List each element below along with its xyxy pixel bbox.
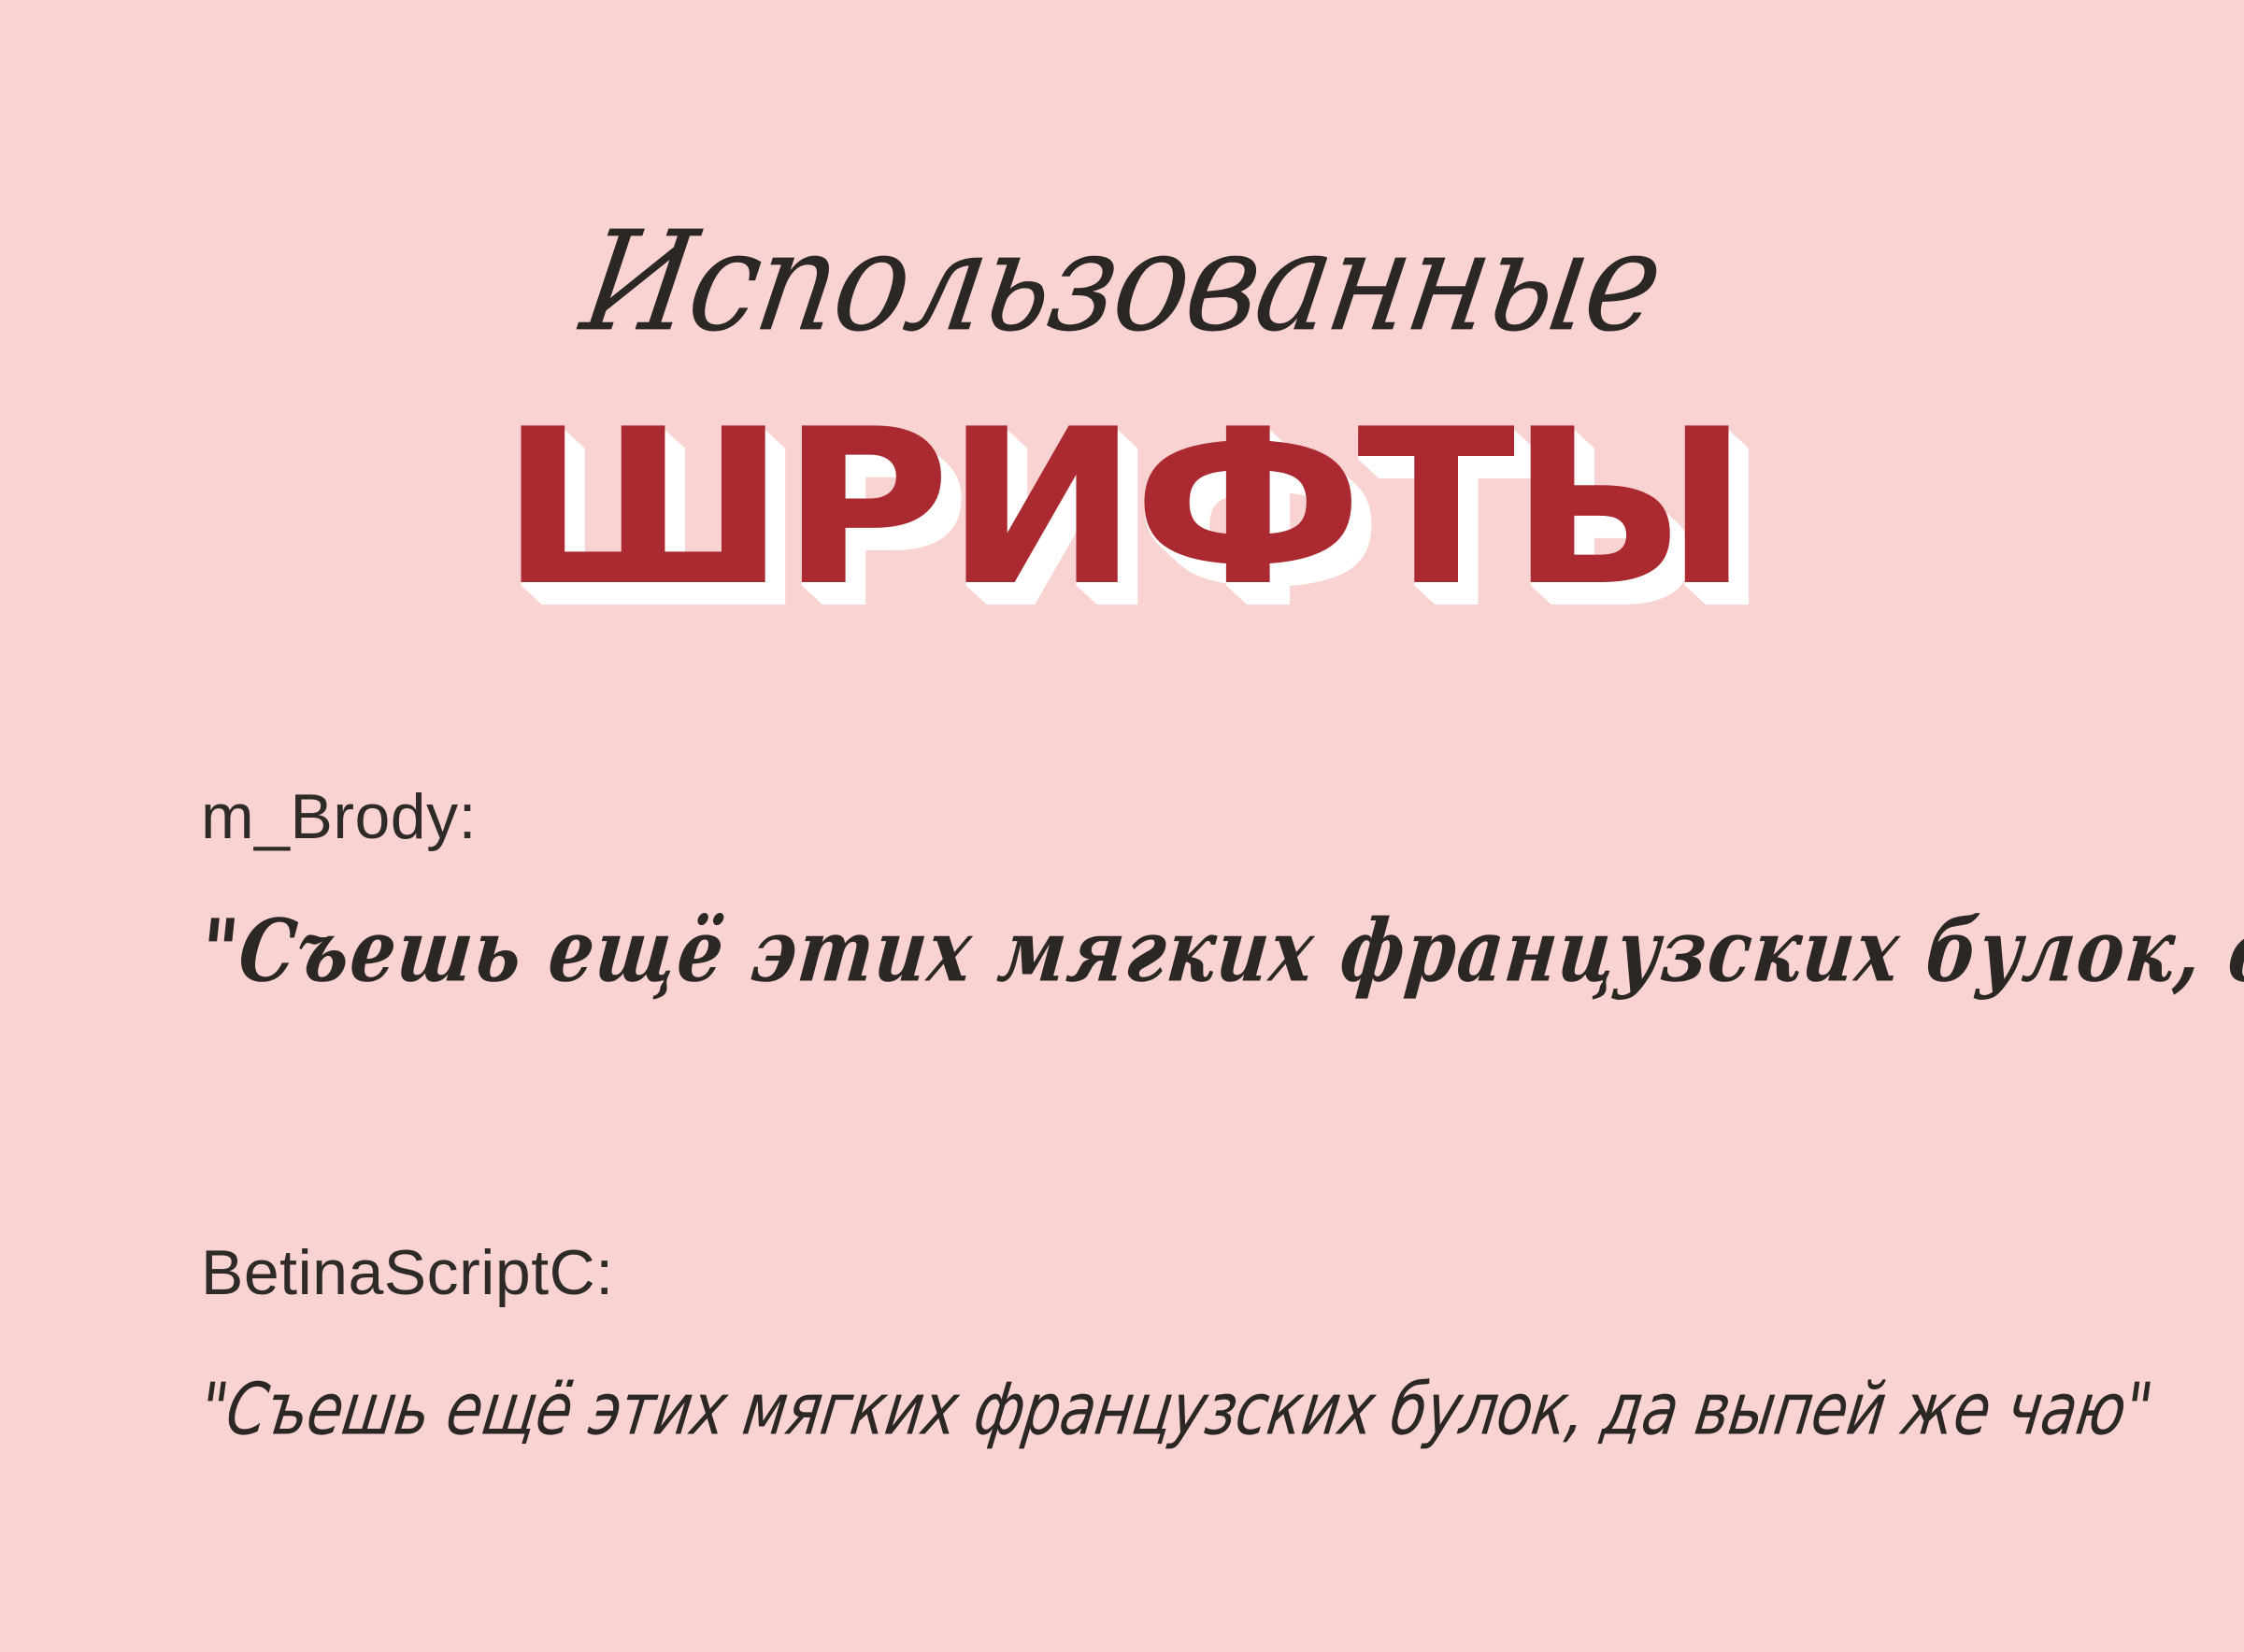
- font-specimen-text: "Съешь ещё этих мягких французских булок…: [196, 909, 2187, 995]
- font-sample-betina: BetinaScriptC: "Съешь ещё этих мягких фр…: [0, 1241, 2244, 1441]
- slide-canvas: Использованные ШРИФТЫ m_Brody: "Съешь ещ…: [0, 0, 2244, 1652]
- title-block: Использованные ШРИФТЫ: [0, 0, 2244, 710]
- font-specimen-text: "Съешь ещё этих мягких французских булок…: [196, 1374, 2127, 1446]
- font-name-label: m_Brody:: [201, 785, 2244, 848]
- page-title: ШРИФТЫ: [500, 402, 1744, 617]
- font-samples-list: m_Brody: "Съешь ещё этих мягких французс…: [0, 785, 2244, 1441]
- script-heading: Использованные: [0, 213, 2244, 351]
- main-title-wrapper: ШРИФТЫ: [0, 402, 2244, 682]
- font-sample-brody: m_Brody: "Съешь ещё этих мягких французс…: [0, 785, 2244, 989]
- font-name-label: BetinaScriptC:: [201, 1241, 2244, 1304]
